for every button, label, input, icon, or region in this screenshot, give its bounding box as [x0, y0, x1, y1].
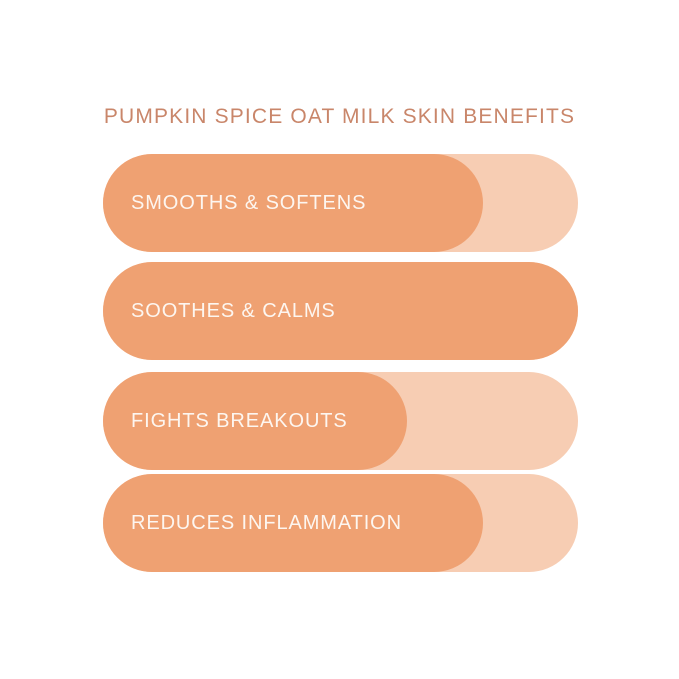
benefit-bar-list: SMOOTHS & SOFTENS SOOTHES & CALMS FIGHTS…: [103, 154, 578, 572]
bar-fill: [103, 262, 578, 360]
benefit-bar-row: FIGHTS BREAKOUTS: [103, 372, 578, 470]
bar-fill: [103, 154, 483, 252]
bar-fill: [103, 372, 407, 470]
bar-fill: [103, 474, 483, 572]
benefit-bar-row: REDUCES INFLAMMATION: [103, 474, 578, 572]
page-title: PUMPKIN SPICE OAT MILK SKIN BENEFITS: [0, 104, 679, 130]
benefit-bar-row: SMOOTHS & SOFTENS: [103, 154, 578, 252]
infographic-canvas: PUMPKIN SPICE OAT MILK SKIN BENEFITS SMO…: [0, 0, 679, 679]
benefit-bar-row: SOOTHES & CALMS: [103, 262, 578, 360]
